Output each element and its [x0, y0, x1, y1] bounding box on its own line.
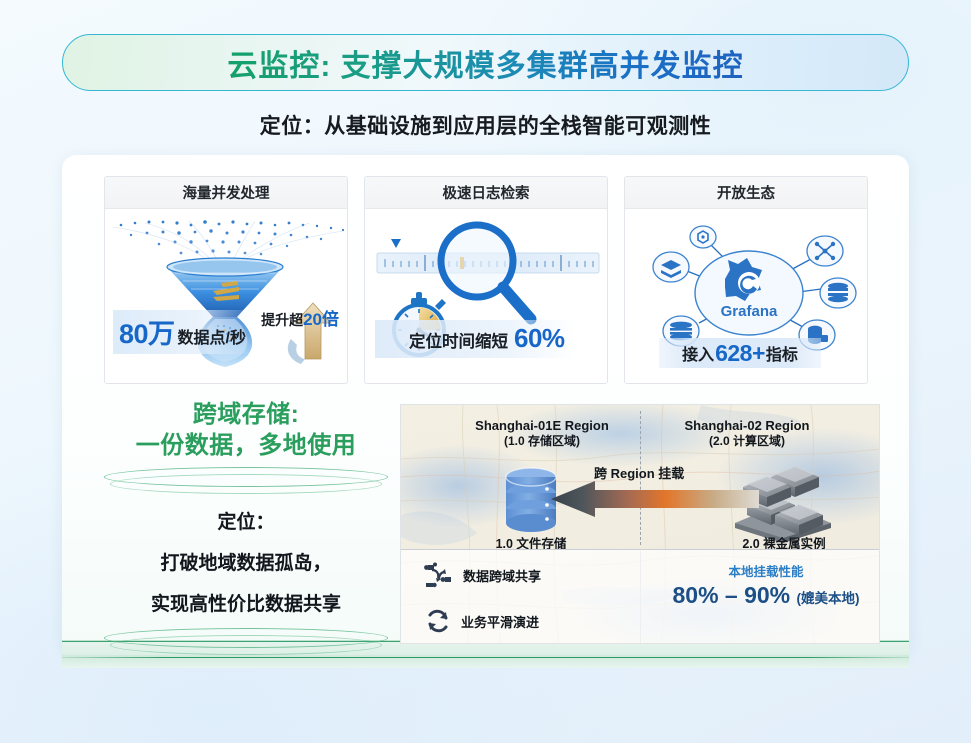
- stat-locate-time: 定位时间缩短 60%: [375, 320, 575, 358]
- region-sub: (2.0 计算区域): [647, 434, 847, 450]
- ellipse-divider-top: [96, 467, 396, 493]
- ellipse-divider-bottom: [96, 628, 396, 654]
- page-subtitle: 定位：从基础设施到应用层的全栈智能可观测性: [0, 110, 971, 140]
- metrics-value: 628+: [715, 340, 765, 367]
- bullet-label: 业务平滑演进: [461, 612, 539, 631]
- local-mount-performance: 本地挂载性能 80% – 90% (媲美本地): [653, 561, 879, 609]
- card-body: 定位时间缩短 60%: [365, 209, 607, 384]
- card-massive-concurrency[interactable]: 海量并发处理: [104, 176, 348, 384]
- stat-value: 60%: [514, 323, 565, 354]
- stat-label: 数据点/秒: [178, 324, 246, 348]
- bullet-smooth-evolution: 业务平滑演进: [425, 608, 539, 634]
- perf-value: 80% – 90%: [672, 582, 790, 608]
- page-title-pill: 云监控: 支撑大规模多集群高并发监控: [62, 34, 909, 91]
- perf-value-row: 80% – 90% (媲美本地): [653, 582, 879, 609]
- data-share-icon: [423, 561, 453, 589]
- stat-metrics: 接入 628+ 指标: [659, 338, 821, 368]
- cross-region-mount-arrow: [551, 481, 759, 517]
- card-body: Grafana: [625, 209, 867, 384]
- card-log-search[interactable]: 极速日志检索: [364, 176, 608, 384]
- funnel-hourglass-icon: [105, 209, 348, 384]
- region-name: Shanghai-01E Region: [447, 417, 637, 434]
- card-title: 极速日志检索: [365, 177, 607, 209]
- stat-datapoints: 80万 数据点/秒: [113, 310, 254, 354]
- card-title: 开放生态: [625, 177, 867, 209]
- region-map-panel: Shanghai-01E Region (1.0 存储区域) Shanghai-…: [400, 404, 880, 644]
- storage-heading-line2: 一份数据，多地使用: [96, 431, 396, 462]
- feature-card-row: 海量并发处理: [104, 176, 868, 384]
- region-sub: (1.0 存储区域): [447, 434, 637, 450]
- metrics-suffix: 指标: [766, 341, 798, 365]
- cross-region-storage-block: 跨域存储: 一份数据，多地使用 定位： 打破地域数据孤岛， 实现高性价比数据共享: [96, 400, 396, 654]
- stat-value: 80万: [119, 312, 175, 351]
- grafana-wordmark: Grafana: [721, 303, 778, 320]
- page-title: 云监控: 支撑大规模多集群高并发监控: [227, 41, 743, 85]
- region-name: Shanghai-02 Region: [647, 417, 847, 434]
- bullet-label: 数据跨域共享: [463, 566, 541, 585]
- improvement-prefix: 提升超: [261, 312, 303, 328]
- storage-point-1: 打破地域数据孤岛，: [96, 548, 396, 575]
- perf-caption: 本地挂载性能: [653, 561, 879, 580]
- perf-note: (媲美本地): [797, 591, 860, 606]
- refresh-cycle-icon: [425, 608, 451, 634]
- improvement-value: 20倍: [303, 310, 339, 329]
- card-title: 海量并发处理: [105, 177, 347, 209]
- metrics-prefix: 接入: [682, 341, 714, 365]
- stat-label: 定位时间缩短: [409, 328, 508, 352]
- arrow-label: 跨 Region 挂载: [594, 463, 684, 482]
- storage-details: 定位： 打破地域数据孤岛， 实现高性价比数据共享: [96, 507, 396, 616]
- storage-heading: 跨域存储: 一份数据，多地使用: [96, 400, 396, 461]
- storage-heading-line1: 跨域存储:: [96, 400, 396, 431]
- card-body: 80万 数据点/秒 提升超20倍: [105, 209, 347, 384]
- positioning-label: 定位：: [96, 507, 396, 534]
- storage-point-2: 实现高性价比数据共享: [96, 589, 396, 616]
- bullet-data-share: 数据跨域共享: [423, 561, 541, 589]
- region-label-right: Shanghai-02 Region (2.0 计算区域): [647, 417, 847, 450]
- region-label-left: Shanghai-01E Region (1.0 存储区域): [447, 417, 637, 450]
- card-open-ecosystem[interactable]: 开放生态 Grafana: [624, 176, 868, 384]
- stat-improvement: 提升超20倍: [261, 305, 339, 330]
